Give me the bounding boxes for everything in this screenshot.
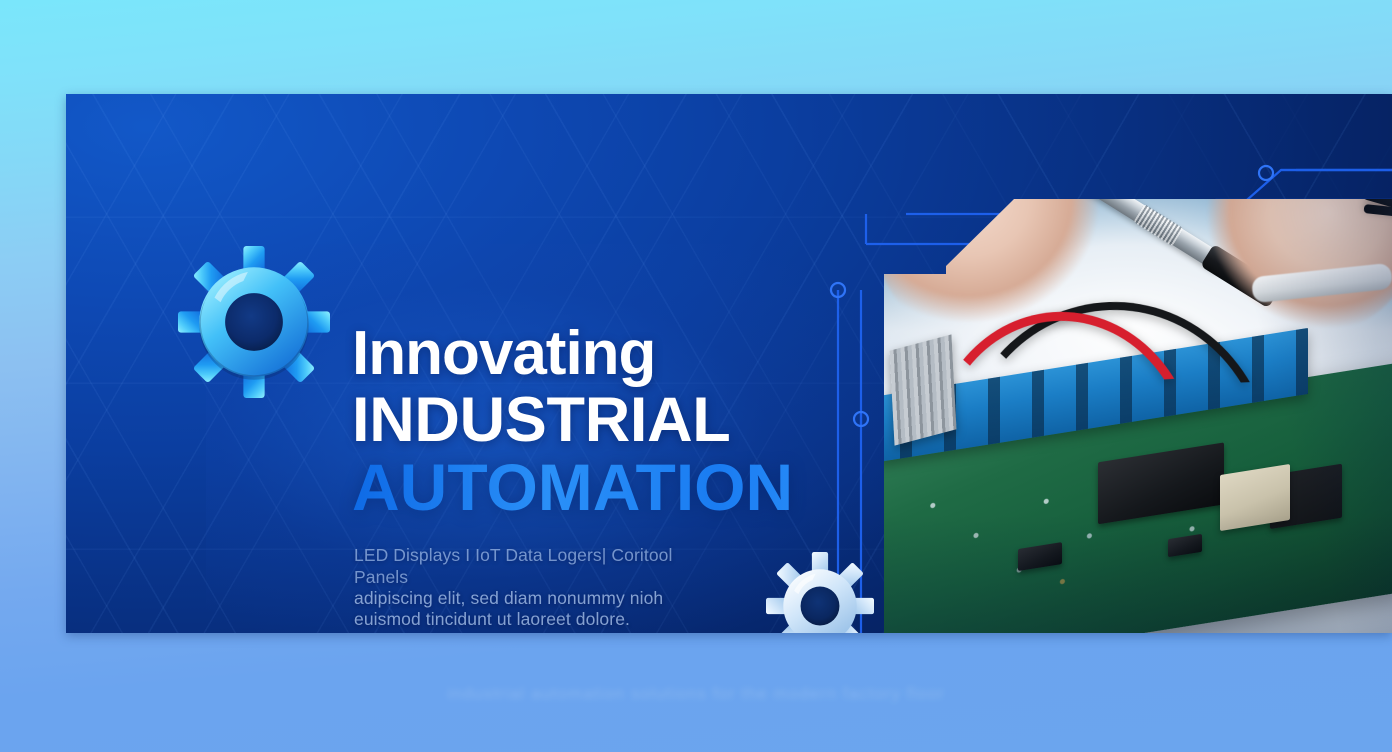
body-line-1: LED Displays I IoT Data Logers| Coritool… [354,545,694,588]
gear-icon [178,246,330,398]
hero-photo-panel [884,94,1392,633]
pcb-relay [1220,464,1290,531]
soldering-iron-knurl [1133,204,1183,246]
hero-text-block: Innovating INDUSTRIAL AUTOMATION LED Dis… [352,324,872,631]
background-ghost-text: industrial automation solutions for the … [0,684,1392,706]
body-line-2: adipiscing elit, sed diam nonummy nioh [354,588,694,609]
headline-line-3: AUTOMATION [352,456,872,519]
hand-left-finger [962,103,1125,209]
body-line-3: euismod tincidunt ut laoreet dolore. [354,609,694,630]
hand-left [884,108,1102,338]
headline-line-1: Innovating [352,324,872,384]
soldering-photo [884,94,1392,633]
hero-banner: Innovating INDUSTRIAL AUTOMATION LED Dis… [66,94,1392,633]
gear-large-icon [178,246,330,398]
page-root: industrial automation solutions for the … [0,0,1392,752]
hero-body-copy: LED Displays I IoT Data Logers| Coritool… [354,545,694,630]
hand-right [1196,124,1392,334]
soldering-iron-tip [1009,128,1064,168]
headline-line-2: INDUSTRIAL [352,390,872,450]
